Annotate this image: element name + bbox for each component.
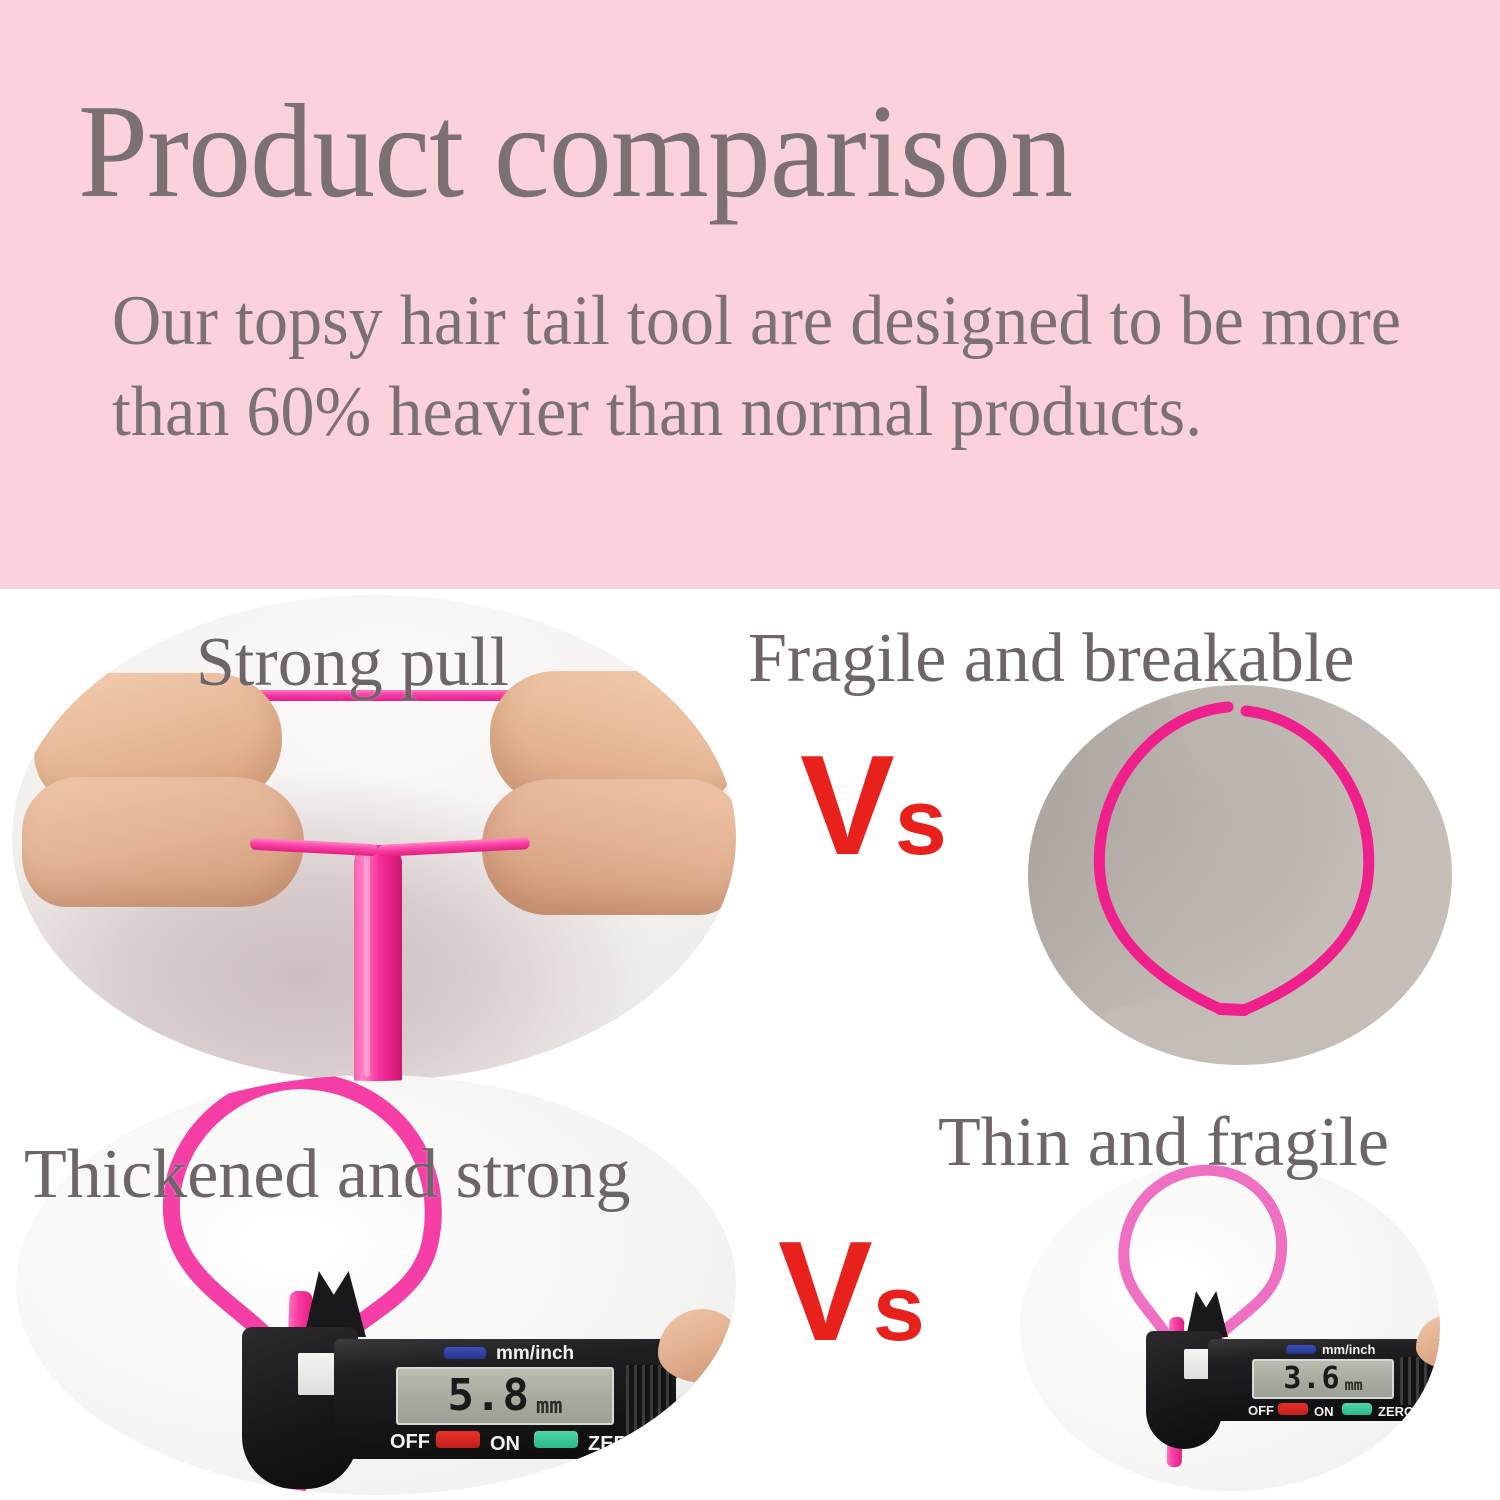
caliper-on-label-36: ON: [1314, 1404, 1334, 1419]
caliper-reading-unit: mm: [536, 1394, 563, 1419]
digital-caliper-36: mm/inch 3.6 mm OFF ON ZERO: [1124, 1301, 1440, 1451]
caliper-zero-label: ZERO: [588, 1433, 644, 1456]
comparison-grid: Strong pull Vs Fragile and breakable: [0, 589, 1500, 1500]
caption-fragile-breakable: Fragile and breakable: [748, 619, 1354, 699]
caliper-mode-button-36[interactable]: [1286, 1345, 1316, 1354]
caliper-zero-label-36: ZERO: [1378, 1404, 1414, 1419]
caliper-depth-rule: [676, 1377, 726, 1417]
caliper-on-label: ON: [490, 1433, 520, 1456]
caliper-mode-button[interactable]: [444, 1347, 486, 1359]
caliper-on-button[interactable]: [534, 1431, 578, 1448]
page-title: Product comparison: [78, 84, 1356, 218]
topsy-tail-handle: [354, 845, 402, 1081]
caliper-grip-ribs-36: [1400, 1357, 1432, 1405]
caption-thickened-strong: Thickened and strong: [24, 1135, 630, 1215]
header-banner: Product comparison Our topsy hair tail t…: [0, 0, 1500, 589]
caliper-reading-unit-36: mm: [1345, 1376, 1363, 1394]
broken-loop-shape: [1084, 699, 1384, 1019]
caliper-off-label-36: OFF: [1248, 1403, 1274, 1418]
vs-letter-s: s: [895, 769, 947, 874]
caliper-display-58: 5.8 mm: [396, 1367, 614, 1425]
vs-letter-v-row2: V: [778, 1212, 873, 1371]
caliper-off-button-36[interactable]: [1278, 1403, 1308, 1415]
caption-thin-fragile: Thin and fragile: [938, 1103, 1389, 1183]
header-subtitle: Our topsy hair tail tool are designed to…: [112, 276, 1418, 458]
caliper-unit-mode-label: mm/inch: [496, 1343, 574, 1365]
digital-caliper-58: mm/inch 5.8 mm OFF ON ZERO: [206, 1281, 726, 1485]
caliper-grip-ribs: [626, 1365, 672, 1435]
caliper-unit-mode-label-36: mm/inch: [1322, 1342, 1375, 1357]
vs-badge-row1: Vs: [800, 739, 947, 874]
caliper-off-button[interactable]: [436, 1431, 480, 1448]
caliper-depth-rule-36: [1434, 1365, 1440, 1393]
caliper-measuring-thin-loop-photo: mm/inch 3.6 mm OFF ON ZERO: [1020, 1161, 1440, 1491]
caption-strong-pull: Strong pull: [196, 623, 509, 703]
vs-letter-v: V: [800, 726, 895, 885]
holding-thumb: [658, 1309, 736, 1383]
caliper-off-label: OFF: [390, 1431, 430, 1454]
vs-badge-row2: Vs: [778, 1225, 925, 1360]
caliper-display-36: 3.6 mm: [1252, 1359, 1394, 1399]
caliper-on-button-36[interactable]: [1342, 1403, 1372, 1415]
caliper-reading-value: 5.8: [448, 1374, 530, 1418]
vs-letter-s-row2: s: [873, 1255, 925, 1360]
broken-loop-photo: [1028, 685, 1452, 1065]
product-comparison-infographic: Product comparison Our topsy hair tail t…: [0, 0, 1500, 1500]
caliper-reading-value-36: 3.6: [1283, 1364, 1340, 1394]
